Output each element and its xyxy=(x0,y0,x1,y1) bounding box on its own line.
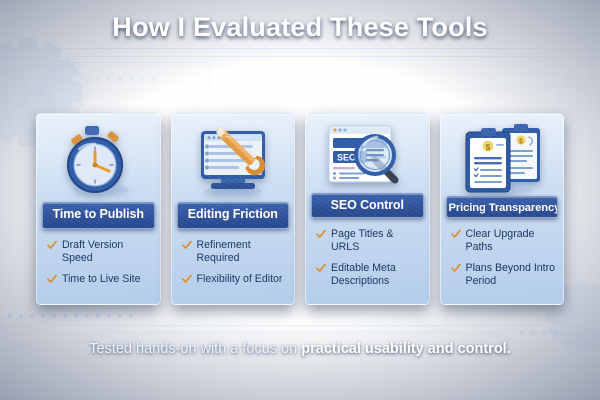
circuit-trace-topleft xyxy=(60,62,210,88)
footer-lead-text: Tested hands-on with a focus on xyxy=(89,341,301,357)
divider-line-bottom xyxy=(0,325,600,326)
svg-text:$: $ xyxy=(519,138,523,145)
check-icon xyxy=(182,274,192,284)
card-bullet-list: Page Titles & URLS Editable Meta Descrip… xyxy=(313,228,422,296)
check-icon xyxy=(47,240,57,250)
bullet-item: Draft Version Speed xyxy=(47,239,152,266)
divider-line-bottom-secondary xyxy=(0,331,600,332)
check-icon xyxy=(316,263,326,273)
card-title-banner: Pricing Transparency xyxy=(446,196,559,218)
criteria-card-time-to-publish[interactable]: Time to Publish Draft Version Speed Time… xyxy=(36,113,161,305)
bullet-label: Page Titles & URLS xyxy=(331,228,421,255)
card-title-banner: Editing Friction xyxy=(177,202,290,229)
check-icon xyxy=(47,274,57,284)
card-bullet-list: Clear Upgrade Paths Plans Beyond Intro P… xyxy=(448,228,557,296)
footer-caption: Tested hands-on with a focus on practica… xyxy=(0,341,600,357)
seo-label: SEO xyxy=(337,153,356,163)
bullet-label: Plans Beyond Intro Period xyxy=(466,262,556,289)
criteria-card-seo-control[interactable]: SEO xyxy=(305,113,430,305)
page-title: How I Evaluated These Tools xyxy=(0,12,600,43)
stopwatch-icon xyxy=(44,120,153,202)
card-title-banner: SEO Control xyxy=(311,193,424,218)
bullet-label: Flexibility of Editor xyxy=(197,273,283,287)
svg-text:$: $ xyxy=(485,142,490,152)
monitor-wrench-icon xyxy=(179,120,288,202)
bullet-item: Flexibility of Editor xyxy=(182,273,287,287)
criteria-card-pricing-transparency[interactable]: $ xyxy=(440,113,565,305)
circuit-trace-topright xyxy=(470,52,590,86)
bullet-item: Editable Meta Descriptions xyxy=(316,262,421,289)
card-bullet-list: Refinement Required Flexibility of Edito… xyxy=(179,239,288,294)
bullet-item: Clear Upgrade Paths xyxy=(451,228,556,255)
bullet-item: Plans Beyond Intro Period xyxy=(451,262,556,289)
bullet-label: Refinement Required xyxy=(197,239,287,266)
circuit-dots-left xyxy=(8,313,133,319)
bullet-label: Draft Version Speed xyxy=(62,239,152,266)
clipboard-dollar-icon: $ xyxy=(448,120,557,196)
check-icon xyxy=(182,240,192,250)
criteria-card-editing-friction[interactable]: Editing Friction Refinement Required Fle… xyxy=(171,113,296,305)
footer-emphasis-text: practical usability and control. xyxy=(301,341,511,357)
circuit-dots-right xyxy=(520,330,557,336)
bullet-item: Time to Live Site xyxy=(47,273,152,287)
check-icon xyxy=(451,229,461,239)
card-bullet-list: Draft Version Speed Time to Live Site xyxy=(44,239,153,294)
criteria-card-list: Time to Publish Draft Version Speed Time… xyxy=(36,113,564,305)
bullet-item: Refinement Required xyxy=(182,239,287,266)
bullet-item: Page Titles & URLS xyxy=(316,228,421,255)
bullet-label: Editable Meta Descriptions xyxy=(331,262,421,289)
browser-magnifier-seo-icon: SEO xyxy=(313,120,422,193)
check-icon xyxy=(451,263,461,273)
check-icon xyxy=(316,229,326,239)
card-title-banner: Time to Publish xyxy=(42,202,155,229)
bullet-label: Time to Live Site xyxy=(62,273,141,287)
bullet-label: Clear Upgrade Paths xyxy=(466,228,556,255)
divider-line-top xyxy=(0,48,600,49)
infographic-canvas: How I Evaluated These Tools xyxy=(0,0,600,400)
